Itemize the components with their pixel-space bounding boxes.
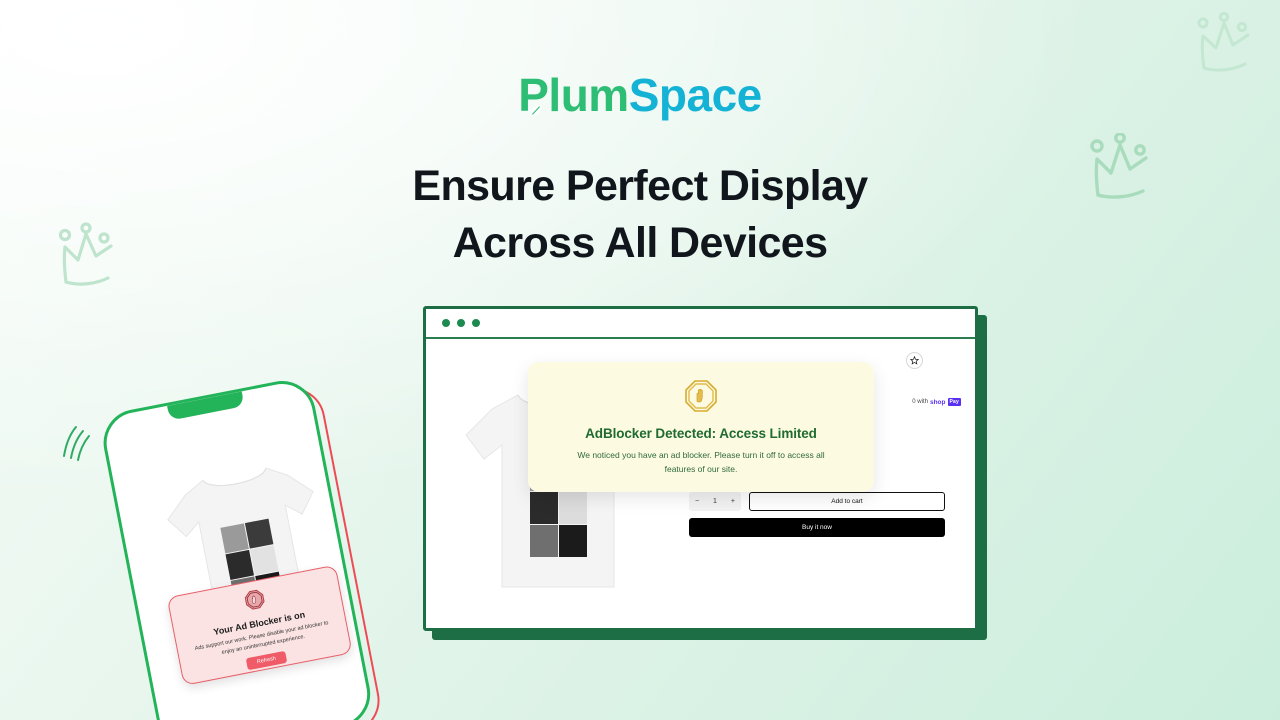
headline-line-1: Ensure Perfect Display <box>0 158 1280 215</box>
phone-notch <box>167 391 244 420</box>
page-headline: Ensure Perfect Display Across All Device… <box>0 158 1280 272</box>
add-to-cart-button[interactable]: Add to cart <box>749 492 945 511</box>
stop-hand-octagon-icon <box>684 379 718 418</box>
shop-pay-amount: 0 with <box>912 399 928 405</box>
phone-mockup: Your Ad Blocker is on Ads support our wo… <box>79 351 462 720</box>
wishlist-star-icon[interactable] <box>906 352 923 369</box>
shop-pay-brand: shop <box>930 399 946 406</box>
stop-hand-octagon-icon <box>243 588 267 616</box>
adblocker-modal-title: AdBlocker Detected: Access Limited <box>585 426 817 441</box>
traffic-light-minimize-icon[interactable] <box>457 319 465 327</box>
brand-logo: PlumSpace <box>518 72 762 118</box>
leaf-icon <box>527 80 544 126</box>
phone-frame: Your Ad Blocker is on Ads support our wo… <box>98 375 376 720</box>
quantity-value[interactable]: 1 <box>713 498 717 505</box>
traffic-light-close-icon[interactable] <box>442 319 450 327</box>
shop-pay-note: 0 with shop Pay <box>912 398 961 406</box>
refresh-button[interactable]: Refresh <box>246 651 287 670</box>
quantity-decrement-button[interactable]: − <box>695 498 699 505</box>
shop-pay-badge: Pay <box>948 398 962 406</box>
adblocker-modal: AdBlocker Detected: Access Limited We no… <box>528 362 874 492</box>
brand-logo-container: PlumSpace <box>0 72 1280 118</box>
adblocker-modal-body: We noticed you have an ad blocker. Pleas… <box>570 448 832 476</box>
buy-it-now-button[interactable]: Buy it now <box>689 518 945 537</box>
quantity-increment-button[interactable]: + <box>731 498 735 505</box>
traffic-light-maximize-icon[interactable] <box>472 319 480 327</box>
headline-line-2: Across All Devices <box>0 215 1280 272</box>
brand-name-space: Space <box>629 69 762 121</box>
quantity-stepper[interactable]: − 1 + <box>689 492 741 511</box>
browser-title-bar <box>426 309 975 339</box>
quantity-and-cart-row: − 1 + Add to cart <box>689 492 945 511</box>
